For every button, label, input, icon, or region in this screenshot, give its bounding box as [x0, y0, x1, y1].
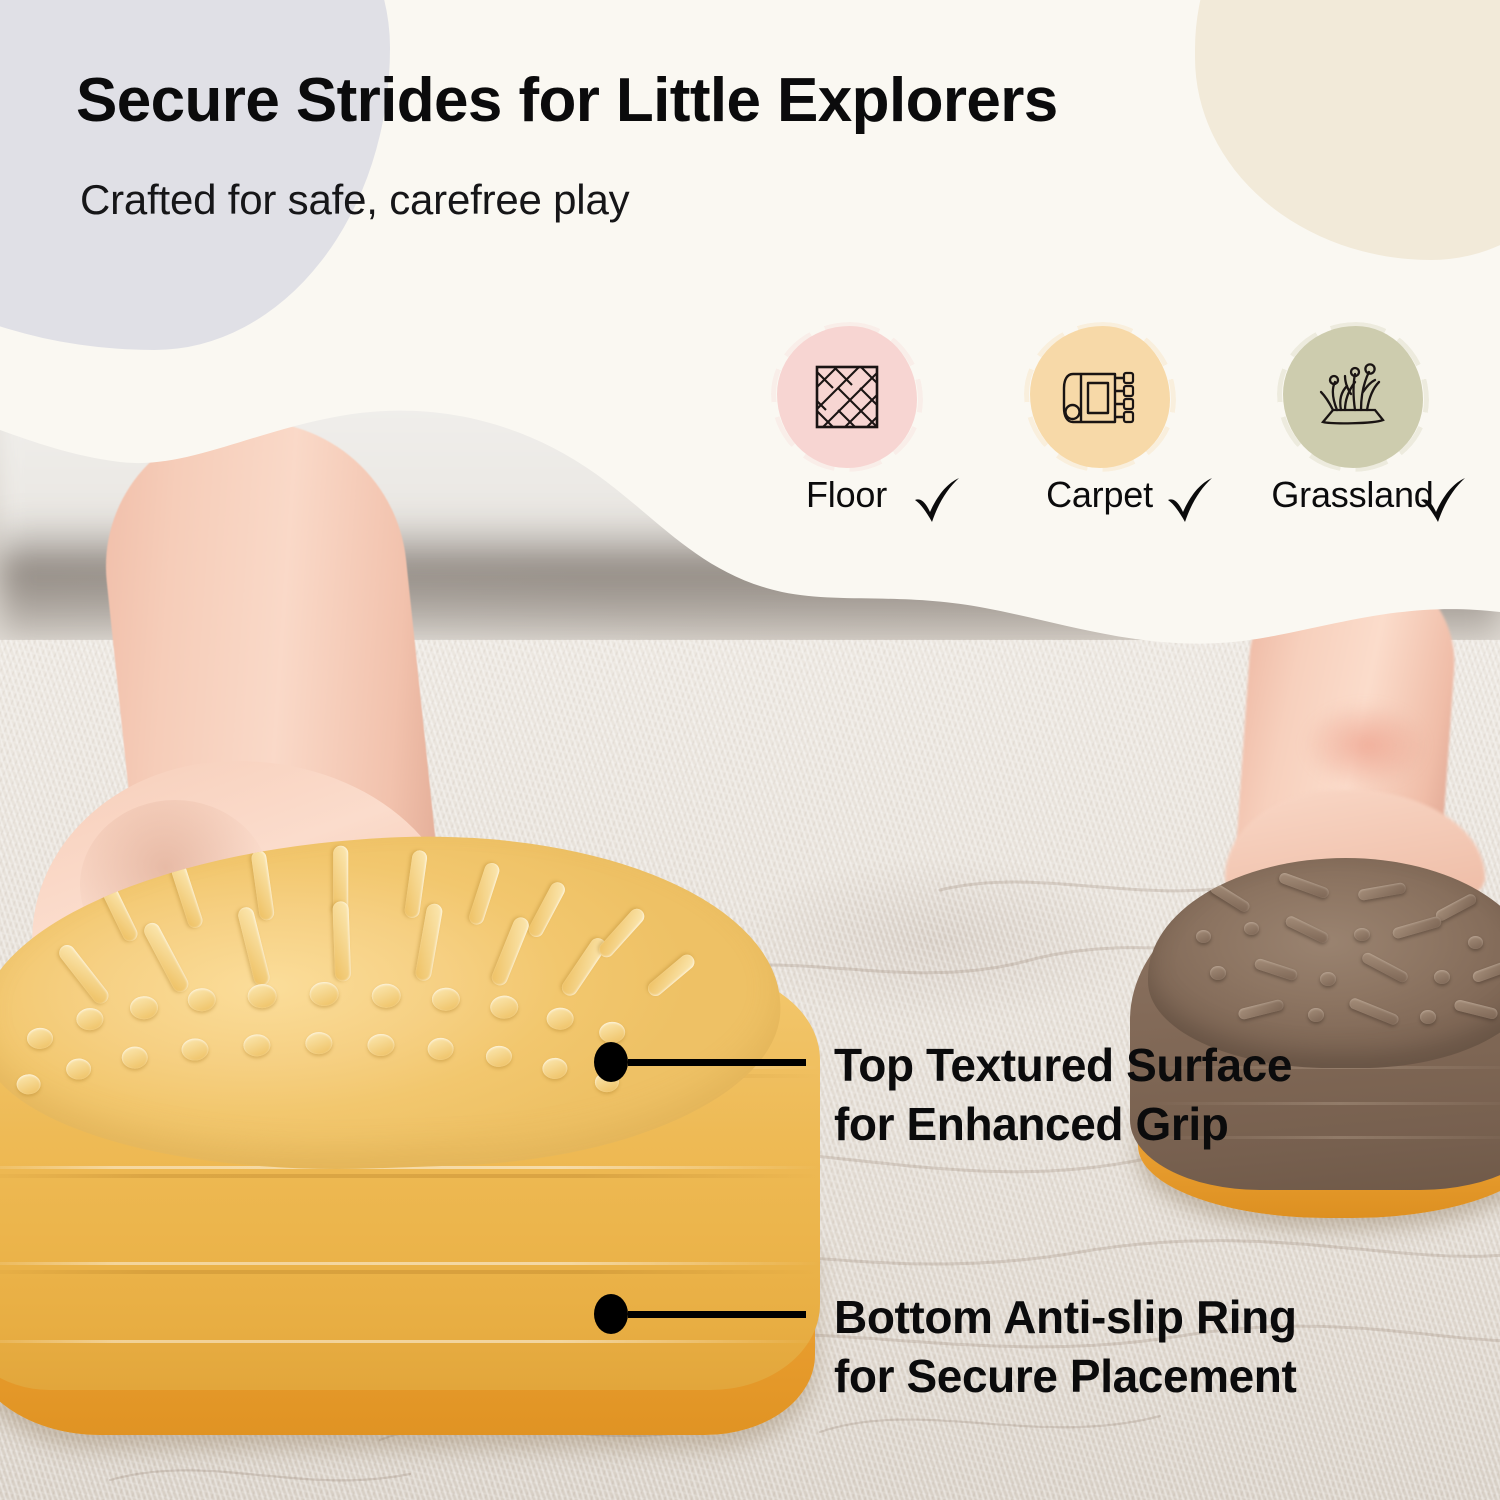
callout-leader-line — [628, 1311, 806, 1318]
surface-label-grassland: Grassland — [1271, 474, 1433, 516]
callout-bottom-line2: for Secure Placement — [834, 1347, 1297, 1406]
check-icon-carpet — [1162, 472, 1218, 528]
surface-label-floor: Floor — [806, 474, 887, 516]
carpet-badge-circle — [1030, 326, 1170, 468]
product-feature-banner: Secure Strides for Little Explorers Craf… — [0, 0, 1500, 1500]
surface-badge-grassland[interactable]: Grassland — [1226, 326, 1479, 526]
grass-tuft-icon — [1311, 358, 1395, 436]
callout-bottom-text: Bottom Anti-slip Ring for Secure Placeme… — [834, 1288, 1297, 1406]
callout-top-text: Top Textured Surface for Enhanced Grip — [834, 1036, 1292, 1154]
grassland-badge-circle — [1283, 326, 1423, 468]
check-icon-floor — [909, 472, 965, 528]
check-icon-grassland — [1415, 472, 1471, 528]
callout-dot-icon — [594, 1042, 628, 1082]
callout-top-textured-surface: Top Textured Surface for Enhanced Grip — [594, 1036, 1292, 1154]
callout-bottom-line1: Bottom Anti-slip Ring — [834, 1288, 1297, 1347]
surface-badge-carpet[interactable]: Carpet — [973, 326, 1226, 526]
compatible-surfaces-list: Floor — [720, 326, 1480, 526]
rolled-carpet-icon — [1059, 358, 1141, 436]
callout-bottom-antislip-ring: Bottom Anti-slip Ring for Secure Placeme… — [594, 1288, 1297, 1406]
page-subtitle: Crafted for safe, carefree play — [80, 176, 629, 224]
callout-leader-line — [628, 1059, 806, 1066]
surface-label-carpet: Carpet — [1046, 474, 1153, 516]
parquet-floor-icon — [808, 358, 886, 436]
callout-top-line2: for Enhanced Grip — [834, 1095, 1292, 1154]
floor-badge-circle — [777, 326, 917, 468]
callout-top-line1: Top Textured Surface — [834, 1036, 1292, 1095]
surface-badge-floor[interactable]: Floor — [720, 326, 973, 526]
callout-dot-icon — [594, 1294, 628, 1334]
page-title: Secure Strides for Little Explorers — [76, 68, 1058, 133]
ankle-blush — [1300, 700, 1430, 790]
